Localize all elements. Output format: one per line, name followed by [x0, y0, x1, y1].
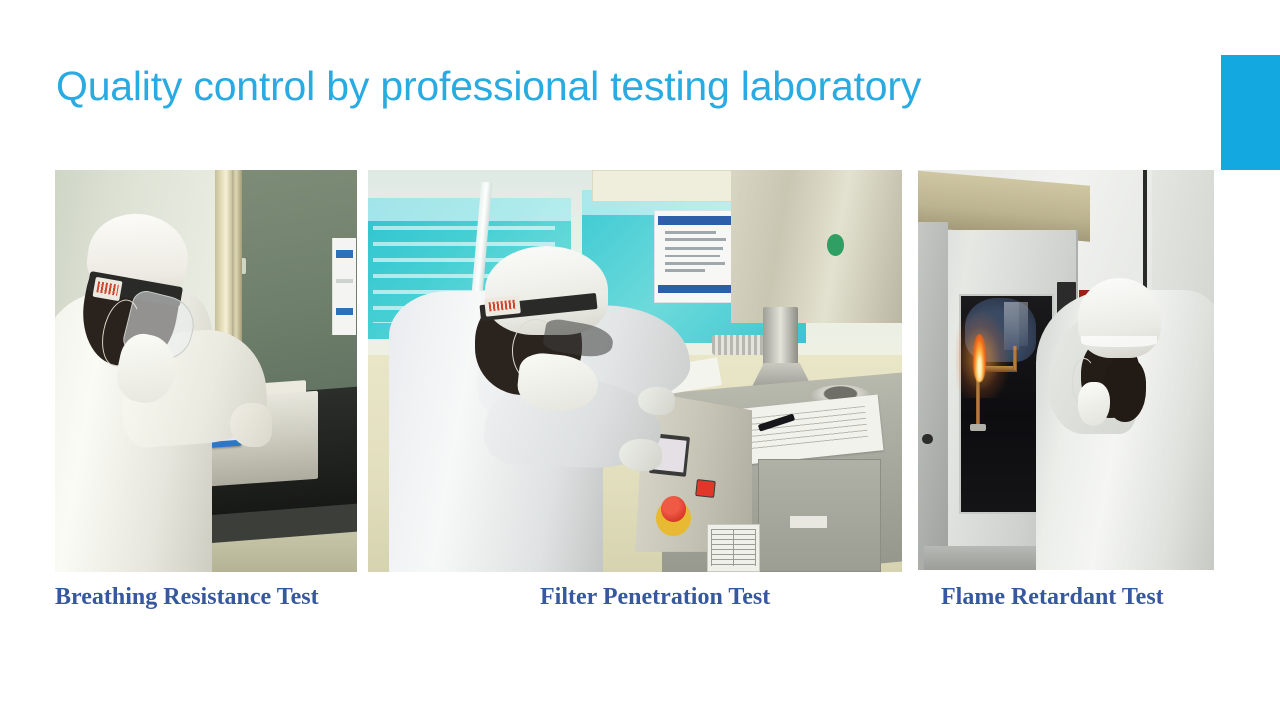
- photo-flame-scene: [918, 170, 1214, 570]
- photo-filter-scene: [368, 170, 902, 572]
- page-title: Quality control by professional testing …: [56, 58, 1176, 114]
- certificate-poster: [654, 210, 739, 302]
- poster-text-line: [665, 231, 717, 234]
- flexible-hose: [712, 335, 765, 355]
- photo-breathing-resistance-test: [55, 170, 357, 572]
- burner-tube: [976, 378, 981, 426]
- technician-glove-left: [619, 439, 662, 471]
- technician-glove-right: [638, 387, 675, 415]
- wall-sign: [332, 238, 356, 334]
- poster-footer-bar: [658, 285, 735, 292]
- wall-sign-bar-middle: [336, 279, 353, 283]
- emergency-stop-button[interactable]: [661, 496, 687, 522]
- poster-text-line: [665, 247, 723, 250]
- accent-block: [1221, 55, 1280, 170]
- test-machine-upper-body: [731, 170, 902, 323]
- wall-header-card: [592, 170, 752, 202]
- poster-text-line: [665, 269, 705, 272]
- chamber-knob[interactable]: [922, 434, 932, 444]
- technician-badge: [485, 295, 521, 317]
- caption-filter-penetration-test: Filter Penetration Test: [540, 584, 770, 611]
- photo-flame-retardant-test: [918, 170, 1214, 570]
- technician-cap: [1078, 278, 1161, 358]
- photo-breathing-scene: [55, 170, 357, 572]
- red-rocker-switch[interactable]: [696, 479, 717, 498]
- burner-base: [970, 424, 986, 431]
- photo-filter-penetration-test: [368, 170, 902, 572]
- machine-spec-label: [707, 524, 760, 572]
- aerosol-nozzle: [763, 307, 798, 371]
- technician-badge: [93, 276, 123, 301]
- test-flame: [973, 334, 986, 382]
- poster-header-bar: [658, 216, 735, 225]
- technician-hair: [1104, 358, 1145, 422]
- poster-text-line: [665, 255, 720, 258]
- cabinet-handle: [790, 516, 827, 528]
- technician-glove: [230, 403, 272, 447]
- wall-sign-bar-bottom: [336, 308, 353, 316]
- slide-canvas: Quality control by professional testing …: [0, 0, 1280, 720]
- info-board-left-header: [368, 198, 571, 221]
- caption-breathing-resistance-test: Breathing Resistance Test: [55, 584, 319, 611]
- poster-text-line: [665, 238, 727, 241]
- caption-flame-retardant-test: Flame Retardant Test: [941, 584, 1164, 611]
- window-glare-secondary: [1019, 302, 1028, 346]
- wall-sign-bar-top: [336, 250, 353, 258]
- chamber-side-panel: [918, 222, 948, 570]
- window-glare: [1004, 302, 1019, 350]
- poster-text-line: [665, 262, 725, 265]
